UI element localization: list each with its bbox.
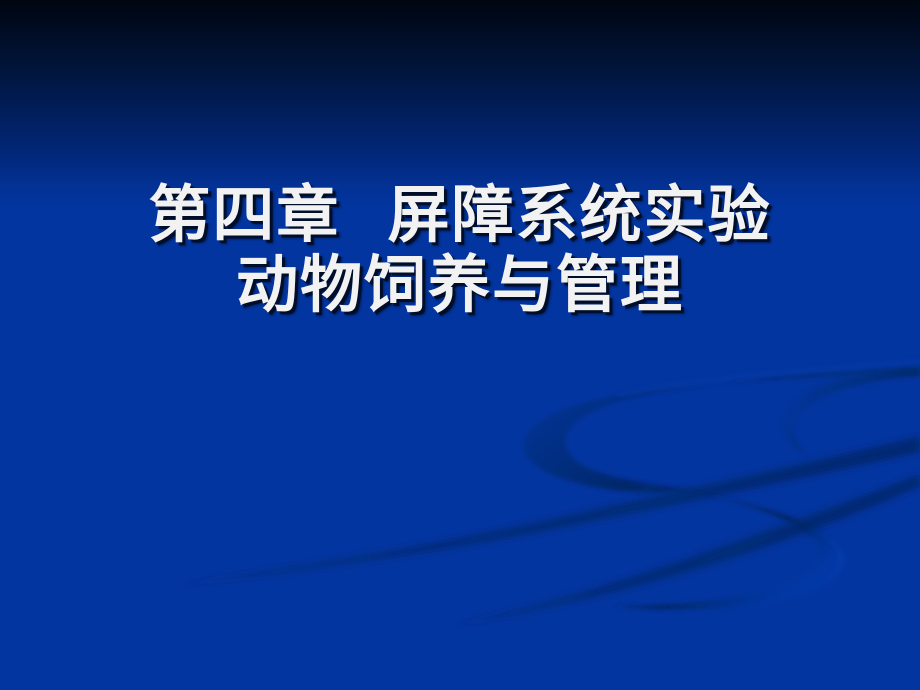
slide-title-line-2: 动物饲养与管理 bbox=[0, 254, 920, 316]
title-slide: 第四章 屏障系统实验 动物饲养与管理 bbox=[0, 0, 920, 690]
slide-title-line-1: 第四章 屏障系统实验 bbox=[0, 184, 920, 254]
swirl-decoration bbox=[0, 0, 920, 690]
slide-title: 第四章 屏障系统实验 动物饲养与管理 bbox=[0, 184, 920, 316]
